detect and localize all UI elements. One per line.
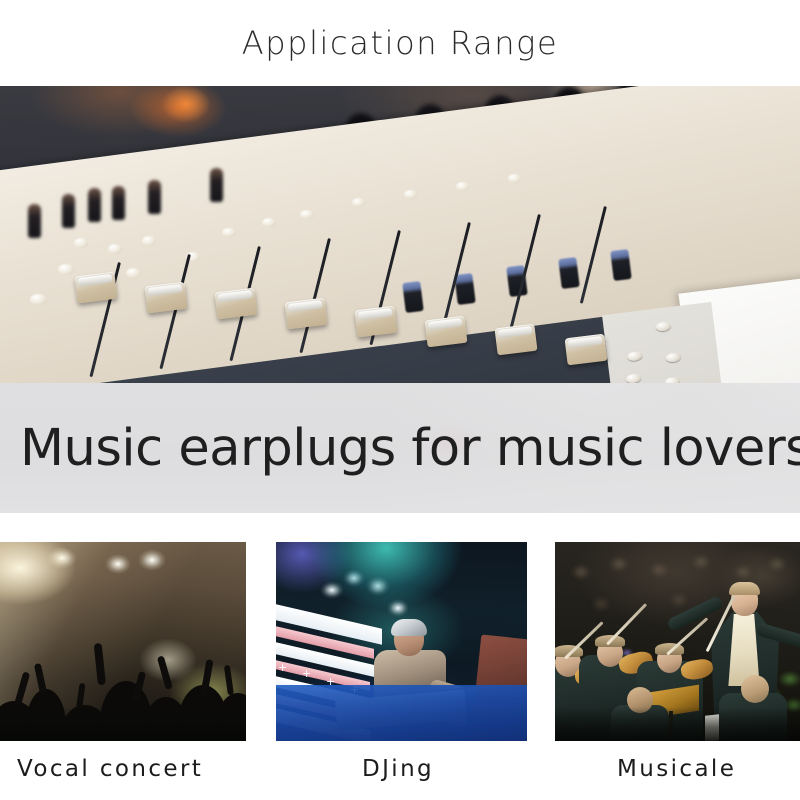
mixer-knob	[62, 194, 75, 228]
round-button-icon	[627, 351, 643, 362]
mixer-knob	[112, 186, 125, 220]
mixer-cap	[108, 244, 122, 254]
page-header: Application Range	[0, 0, 800, 86]
fader-cap[interactable]	[285, 298, 328, 330]
mixer-cap	[30, 294, 47, 305]
hero-mixer-image	[0, 86, 800, 383]
caption-vocal-concert: Vocal concert	[17, 756, 203, 782]
round-button-icon	[655, 321, 671, 332]
fader-cap[interactable]	[425, 316, 468, 348]
headline-text: Music earplugs for music lovers	[20, 383, 800, 513]
panel-musicale[interactable]	[555, 542, 800, 741]
mixer-switch	[454, 273, 476, 305]
mixer-knob	[148, 180, 161, 214]
panel-bottom-shade	[0, 707, 246, 741]
fader-cap[interactable]	[75, 272, 118, 304]
mixer-cap	[508, 174, 521, 183]
fader-cap[interactable]	[215, 288, 258, 320]
page-title: Application Range	[242, 24, 558, 62]
mixer-cap	[456, 182, 469, 191]
fader-cap[interactable]	[145, 282, 188, 314]
plus-icon: +	[278, 662, 287, 673]
fader-cap[interactable]	[565, 334, 608, 366]
caption-djing: DJing	[362, 756, 434, 782]
mixer-cap	[126, 268, 141, 278]
mixer-knob	[210, 168, 223, 202]
fader-cap[interactable]	[495, 324, 538, 356]
panel-djing[interactable]: + + + + + +	[276, 542, 527, 741]
mixer-cap	[352, 198, 365, 207]
round-button-icon	[664, 376, 680, 383]
mixer-cap	[404, 190, 417, 199]
mixer-switch	[610, 249, 632, 281]
dj-booth-table	[276, 685, 527, 741]
headline-band: Music earplugs for music lovers	[0, 383, 800, 513]
panel-bottom-shade	[555, 707, 800, 741]
mixer-cap	[74, 238, 88, 248]
mixer-cap	[300, 210, 314, 219]
application-panels: Vocal concert + + + + + +	[0, 513, 800, 800]
round-button-icon	[665, 352, 681, 363]
caption-musicale: Musicale	[617, 756, 736, 782]
mixer-cap	[222, 228, 236, 237]
application-range-page: Application Range	[0, 0, 800, 800]
mixer-button-panel	[602, 302, 732, 383]
panel-vocal-concert[interactable]	[0, 542, 246, 741]
plus-icon: +	[302, 668, 311, 679]
fader-cap[interactable]	[355, 306, 398, 338]
beanie-icon	[391, 619, 427, 636]
mixer-knob	[88, 188, 101, 222]
mixer-switch	[402, 281, 424, 313]
mixer-switch	[558, 257, 580, 289]
mixer-cap	[58, 264, 74, 275]
mixer-cap	[142, 236, 156, 246]
mixer-cap	[262, 218, 276, 227]
round-button-icon	[625, 373, 641, 383]
mixer-knob	[28, 204, 41, 238]
